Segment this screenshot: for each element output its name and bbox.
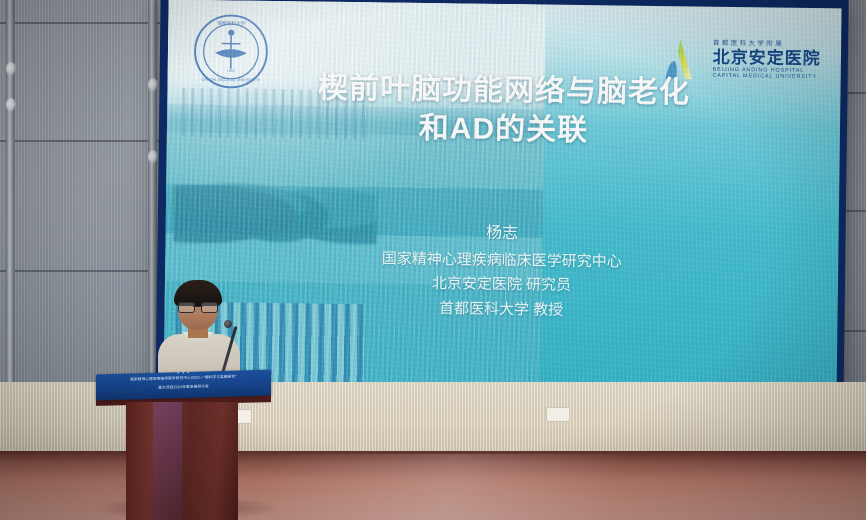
slide-title-line1: 楔前叶脑功能网络与脑老化 [318,72,690,110]
banner-emblem-icon: ✦ ✦ ✦ [177,371,190,375]
podium-banner: ✦ ✦ ✦ 国家精神心理疾病临床医学研究中心2020—"脑科学与类脑研究" 重大… [96,370,271,401]
wall-light-reflection [148,78,158,92]
wall-light-reflection [6,98,16,112]
wall-outlet [546,407,570,422]
microphone-icon [224,320,232,328]
slide-speaker-block: 杨志 国家精神心理疾病临床医学研究中心 北京安定医院 研究员 首都医科大学 教授 [164,217,838,327]
wall-seam [0,140,160,142]
wall-seam [0,270,160,272]
wall-light-reflection [148,150,158,164]
banner-line-1: 国家精神心理疾病临床医学研究中心2020—"脑科学与类脑研究" [102,374,265,384]
wall-seam [0,22,160,24]
anding-superline: 首都医科大学附属 [713,41,821,49]
glasses-icon [178,302,218,311]
wall-light-reflection [6,62,16,76]
banner-line-2: 重大项目2023年度进展研讨会 [102,383,265,393]
podium-body [126,402,238,520]
anding-chinese-name: 北京安定医院 [713,49,821,67]
podium: ✦ ✦ ✦ 国家精神心理疾病临床医学研究中心2020—"脑科学与类脑研究" 重大… [96,360,271,520]
presentation-slide: 首都医科大学 CAPITAL MEDICAL UNIVERSITY 1960 [163,0,841,410]
conference-hall-scene: 首都医科大学 CAPITAL MEDICAL UNIVERSITY 1960 [0,0,866,520]
slide-title-line2: 和AD的关联 [207,107,800,153]
projection-screen-frame: 首都医科大学 CAPITAL MEDICAL UNIVERSITY 1960 [155,0,848,418]
slide-title: 楔前叶脑功能网络与脑老化 和AD的关联 [167,68,841,154]
